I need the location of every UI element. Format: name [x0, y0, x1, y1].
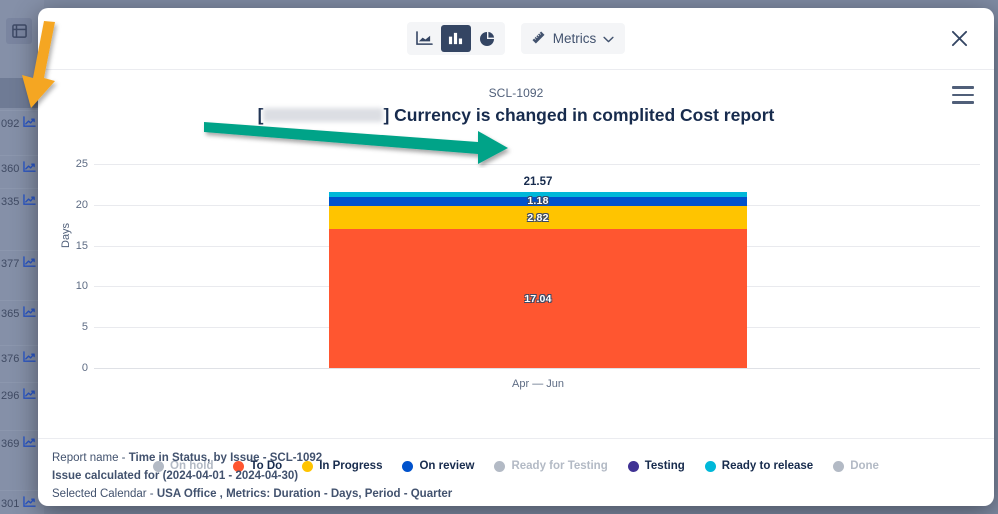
background-row-id: 335 [1, 196, 19, 208]
background-row-id: 092 [1, 118, 19, 130]
trend-chart-icon[interactable] [23, 351, 36, 366]
background-row-id: 365 [1, 308, 19, 320]
y-axis-tick: 0 [38, 362, 88, 374]
metrics-button[interactable]: Metrics [521, 23, 626, 54]
bar-segment-label: 2.82 [527, 212, 548, 224]
chart-type-toggle-group[interactable] [407, 22, 505, 55]
pie-chart-icon[interactable] [472, 25, 502, 52]
area-chart-icon[interactable] [410, 25, 440, 52]
metrics-button-label: Metrics [553, 31, 597, 46]
redacted-text [263, 108, 383, 122]
footer-report-name-prefix: Report name - [52, 452, 129, 464]
x-axis-line [94, 368, 980, 369]
title-suffix: ] Currency is changed in complited Cost … [383, 105, 774, 125]
y-axis-tick: 10 [38, 280, 88, 292]
trend-chart-icon[interactable] [23, 436, 36, 451]
bar-total-label: 21.57 [329, 176, 747, 188]
background-row-id: 301 [1, 498, 19, 510]
x-axis-tick-label: Apr — Jun [329, 378, 747, 390]
trend-chart-icon[interactable] [23, 496, 36, 511]
chevron-down-icon [603, 31, 614, 46]
bar-segment-label: 17.04 [524, 293, 551, 305]
ruler-icon [531, 30, 546, 48]
bar-chart-icon[interactable] [441, 25, 471, 52]
bar-segment[interactable]: 17.04 [329, 229, 747, 368]
background-row-id: 360 [1, 163, 19, 175]
background-row-id: 377 [1, 258, 19, 270]
bar-segment[interactable]: 1.18 [329, 197, 747, 207]
background-row-id: 296 [1, 390, 19, 402]
gridline [94, 164, 980, 165]
footer-issue-calculated: Issue calculated for (2024-04-01 - 2024-… [52, 467, 994, 485]
issue-key: SCL-1092 [38, 70, 994, 100]
stacked-bar[interactable]: 1.182.8217.04 [329, 192, 747, 368]
chart-plot-area: Days 0510152025 21.57 1.182.8217.04 Apr … [38, 140, 994, 390]
close-icon[interactable] [946, 26, 972, 52]
footer-calendar-value: USA Office , Metrics: Duration - Days, P… [157, 488, 452, 500]
modal-body: SCL-1092 [] Currency is changed in compl… [38, 70, 994, 438]
y-axis-tick: 15 [38, 240, 88, 252]
trend-chart-icon[interactable] [23, 194, 36, 209]
footer-report-name-value: Time in Status, by Issue - SCL-1092 [129, 452, 322, 464]
trend-chart-icon[interactable] [23, 256, 36, 271]
hamburger-menu-icon[interactable] [952, 86, 974, 104]
bar-segment[interactable]: 2.82 [329, 206, 747, 229]
y-axis-tick: 25 [38, 158, 88, 170]
trend-chart-icon[interactable] [23, 306, 36, 321]
footer-report-name: Report name - Time in Status, by Issue -… [52, 449, 994, 467]
background-row-id: 376 [1, 353, 19, 365]
y-axis-tick: 20 [38, 199, 88, 211]
footer-calendar: Selected Calendar - USA Office , Metrics… [52, 485, 994, 503]
modal-header: Metrics [38, 8, 994, 70]
y-axis-tick: 5 [38, 321, 88, 333]
board-icon[interactable] [6, 18, 32, 44]
report-footer: Report name - Time in Status, by Issue -… [38, 438, 994, 506]
background-row-id: 369 [1, 438, 19, 450]
trend-chart-icon[interactable] [23, 116, 36, 131]
trend-chart-icon[interactable] [23, 161, 36, 176]
footer-calendar-prefix: Selected Calendar - [52, 488, 157, 500]
page-title: [] Currency is changed in complited Cost… [38, 105, 994, 126]
report-modal: Metrics SCL-1092 [] Currency is changed … [38, 8, 994, 506]
trend-chart-icon[interactable] [23, 388, 36, 403]
